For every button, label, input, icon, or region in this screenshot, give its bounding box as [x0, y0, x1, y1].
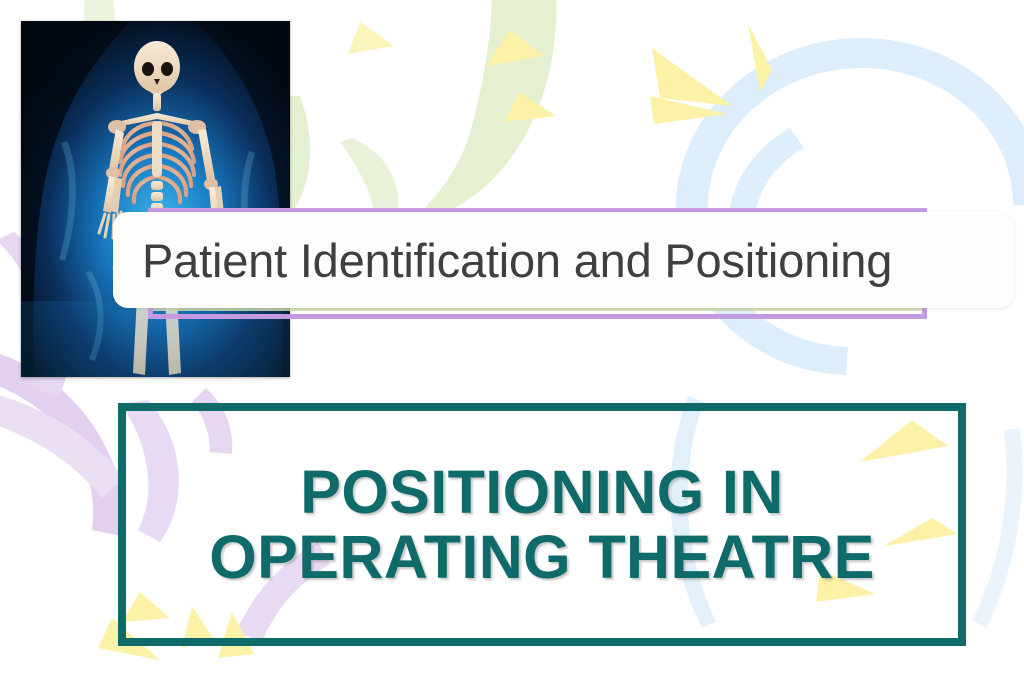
blue-ring-decoration	[676, 38, 1024, 375]
skeleton-illustration	[21, 21, 290, 377]
headline-box: POSITIONING IN OPERATING THEATRE	[118, 403, 966, 646]
slide-canvas: Patient Identification and Positioning P…	[0, 0, 1024, 680]
skeleton-image	[21, 21, 290, 377]
headline-line-2: OPERATING THEATRE	[209, 525, 874, 590]
slide-title-plate: Patient Identification and Positioning	[113, 212, 1014, 308]
slide-title-text: Patient Identification and Positioning	[113, 237, 892, 284]
headline-text: POSITIONING IN OPERATING THEATRE	[209, 460, 874, 589]
headline-line-1: POSITIONING IN	[209, 460, 874, 525]
